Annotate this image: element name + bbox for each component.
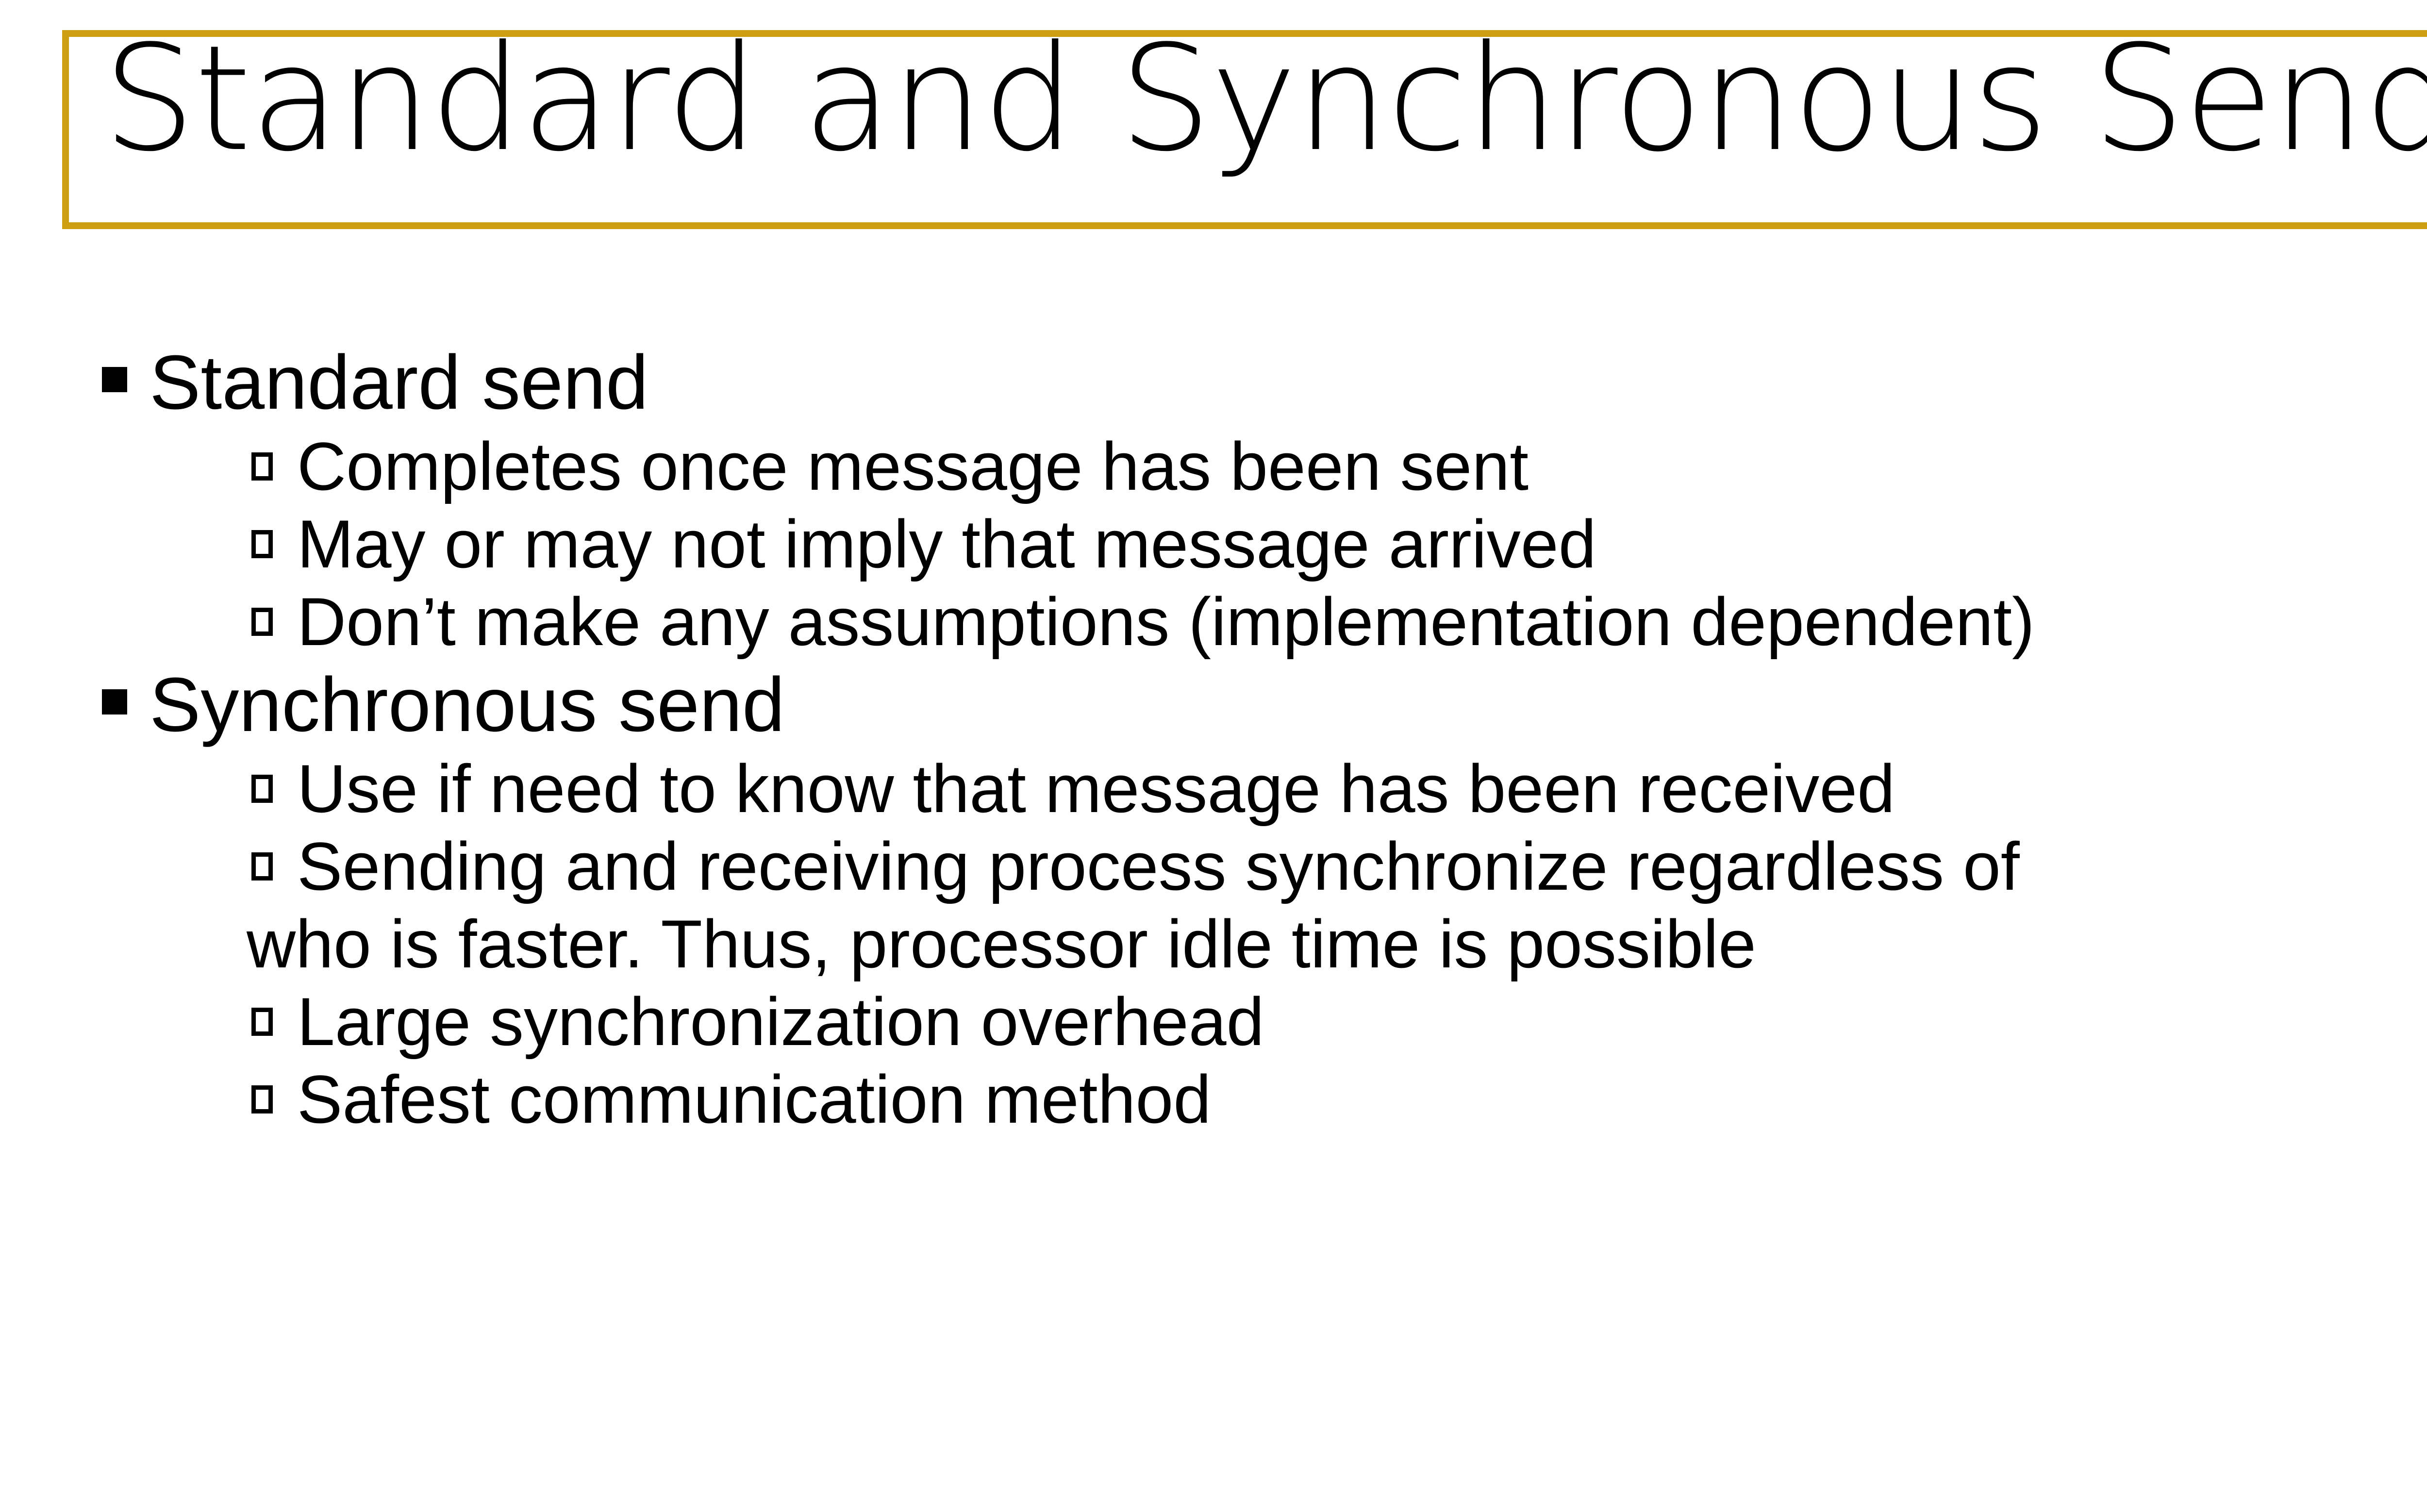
hollow-square-bullet-icon: [251, 584, 281, 659]
hollow-square-bullet-icon: [251, 429, 281, 504]
bullet-text: Sending and receiving process synchroniz…: [297, 828, 2020, 904]
bullet-text: Safest communication method: [297, 1061, 1211, 1137]
bullet-item-level2: Safest communication method: [95, 1062, 2427, 1137]
bullet-item-level2: May or may not imply that message arrive…: [95, 507, 2427, 582]
bullet-item-level2-continuation: who is faster. Thus, processor idle time…: [95, 907, 2427, 981]
bullet-text: Use if need to know that message has bee…: [297, 750, 1895, 827]
bullet-item-level1: Synchronous send: [95, 662, 2427, 748]
bullet-item-level2: Sending and receiving process synchroniz…: [95, 829, 2427, 904]
bullet-item-level2: Don’t make any assumptions (implementati…: [95, 584, 2427, 659]
hollow-square-bullet-icon: [251, 751, 281, 826]
bullet-text: Don’t make any assumptions (implementati…: [297, 583, 2035, 660]
bullet-text: May or may not imply that message arrive…: [297, 506, 1596, 582]
bullet-item-level2: Completes once message has been sent: [95, 429, 2427, 504]
filled-square-bullet-icon: [102, 662, 129, 748]
slide-canvas: Standard and Synchronous Send Standard s…: [0, 0, 2427, 1512]
bullet-text: Synchronous send: [150, 662, 785, 748]
bullet-text: who is faster. Thus, processor idle time…: [247, 906, 1756, 982]
bullet-text: Completes once message has been sent: [297, 428, 1529, 504]
slide-body-content: Standard send Completes once message has…: [95, 340, 2427, 1140]
hollow-square-bullet-icon: [251, 1062, 281, 1137]
hollow-square-bullet-icon: [251, 984, 281, 1059]
hollow-square-bullet-icon: [251, 829, 281, 904]
bullet-text: Standard send: [150, 340, 648, 425]
hollow-square-bullet-icon: [251, 507, 281, 582]
bullet-text: Large synchronization overhead: [297, 983, 1264, 1060]
page-title: Standard and Synchronous Send: [103, 21, 2427, 249]
bullet-item-level1: Standard send: [95, 340, 2427, 425]
bullet-item-level2: Use if need to know that message has bee…: [95, 751, 2427, 826]
filled-square-bullet-icon: [102, 340, 129, 425]
bullet-item-level2: Large synchronization overhead: [95, 984, 2427, 1059]
